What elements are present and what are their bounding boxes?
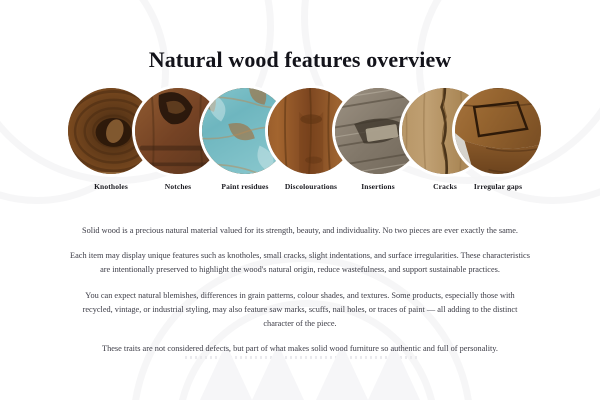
feature-label: Cracks — [433, 182, 457, 191]
irregular-gap-texture — [455, 88, 541, 174]
feature-label: Paint residues — [221, 182, 268, 191]
page-title: Natural wood features overview — [0, 47, 600, 73]
feature-label: Insertions — [361, 182, 395, 191]
feature-circle-strip: Knotholes — [0, 88, 600, 176]
wood-irregular-gap-circle — [455, 88, 541, 174]
body-paragraph: Solid wood is a precious natural materia… — [50, 224, 550, 238]
feature-label: Discolourations — [285, 182, 337, 191]
feature-label: Knotholes — [94, 182, 128, 191]
feature-item-irregular-gaps[interactable]: Irregular gaps — [455, 88, 541, 174]
body-paragraph: These traits are not considered defects,… — [50, 342, 550, 356]
body-copy: Solid wood is a precious natural materia… — [50, 224, 550, 356]
body-paragraph: You can expect natural blemishes, differ… — [70, 289, 530, 332]
feature-label: Irregular gaps — [474, 182, 522, 191]
body-paragraph: Each item may display unique features su… — [70, 249, 530, 277]
feature-label: Notches — [165, 182, 191, 191]
watermark-dashed-rule — [185, 356, 417, 359]
